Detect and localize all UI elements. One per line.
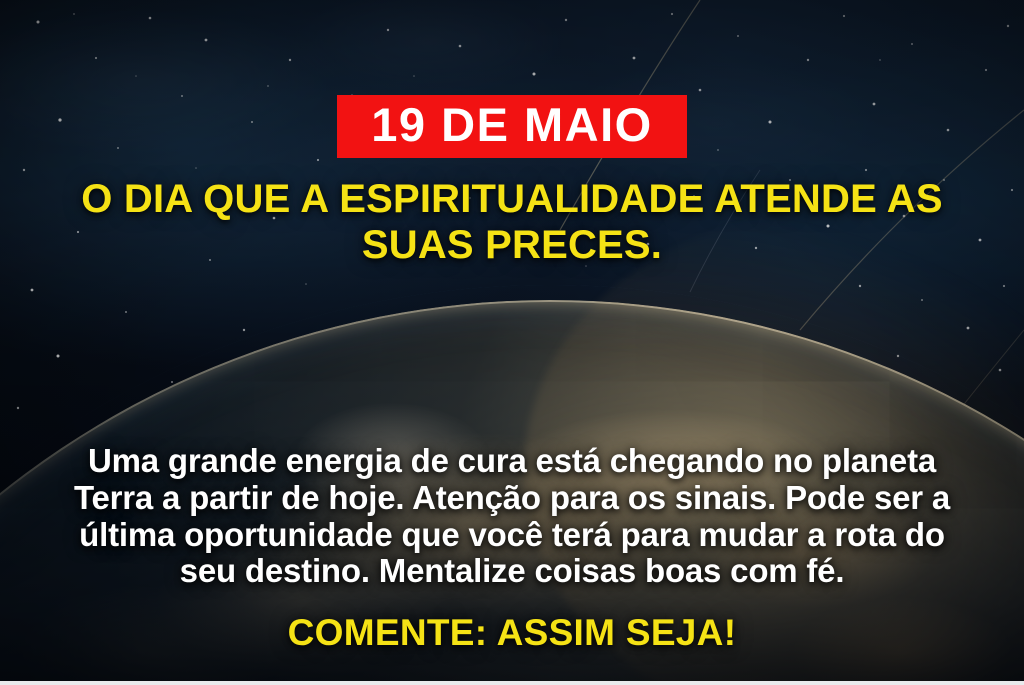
date-banner: 19 DE MAIO <box>337 95 686 158</box>
headline-text: O DIA QUE A ESPIRITUALIDADE ATENDE AS SU… <box>72 176 952 269</box>
body-paragraph: Uma grande energia de cura está chegando… <box>60 443 965 590</box>
call-to-action-text: COMENTE: ASSIM SEJA! <box>0 612 1024 654</box>
date-banner-text: 19 DE MAIO <box>371 101 652 148</box>
bottom-strip <box>0 681 1024 685</box>
poster-canvas: 19 DE MAIO O DIA QUE A ESPIRITUALIDADE A… <box>0 0 1024 685</box>
